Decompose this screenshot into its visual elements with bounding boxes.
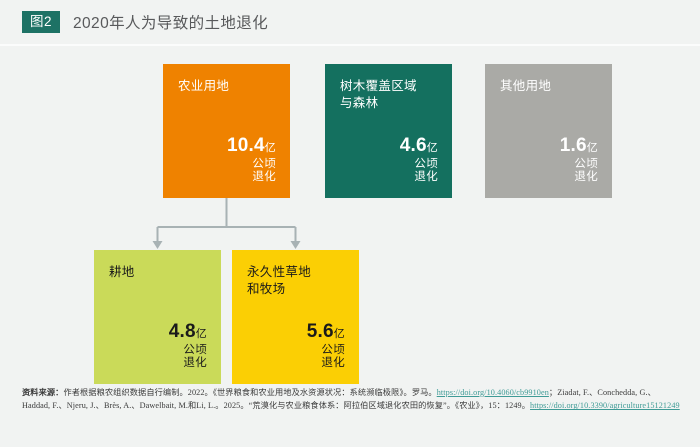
node-unit-suffix: 亿 bbox=[334, 328, 345, 340]
node-label: 树木覆盖区域 与森林 bbox=[340, 78, 438, 113]
node-label: 其他用地 bbox=[500, 78, 598, 95]
node-unit-suffix: 亿 bbox=[265, 142, 276, 154]
figure-root: 图2 2020年人为导致的土地退化 农业用地 10.4亿 公顷 退化 bbox=[0, 0, 700, 447]
page-title: 2020年人为导致的土地退化 bbox=[73, 11, 268, 33]
figure-number-badge: 图2 bbox=[22, 11, 60, 34]
node-amount: 4.6 bbox=[400, 135, 427, 156]
node-unit-hectares: 公顷 bbox=[340, 158, 438, 172]
node-agricultural-land: 农业用地 10.4亿 公顷 退化 bbox=[163, 64, 290, 198]
node-tree-cover-and-forest: 树木覆盖区域 与森林 4.6亿 公顷 退化 bbox=[325, 64, 452, 198]
node-unit-hectares: 公顷 bbox=[247, 344, 345, 358]
node-unit-degraded: 退化 bbox=[247, 357, 345, 371]
node-value: 10.4亿 公顷 退化 bbox=[178, 135, 276, 185]
node-unit-degraded: 退化 bbox=[340, 171, 438, 185]
node-label: 耕地 bbox=[109, 264, 207, 281]
node-permanent-meadows-and-pastures: 永久性草地 和牧场 5.6亿 公顷 退化 bbox=[232, 250, 359, 384]
node-unit-suffix: 亿 bbox=[196, 328, 207, 340]
node-value: 5.6亿 公顷 退化 bbox=[247, 321, 345, 371]
node-label: 永久性草地 和牧场 bbox=[247, 264, 345, 299]
arrowhead-left-icon bbox=[153, 241, 163, 249]
node-value: 1.6亿 公顷 退化 bbox=[500, 135, 598, 185]
node-unit-suffix: 亿 bbox=[427, 142, 438, 154]
source-link-1[interactable]: https://doi.org/10.4060/cb9910en bbox=[437, 388, 549, 397]
node-unit-degraded: 退化 bbox=[109, 357, 207, 371]
node-amount: 5.6 bbox=[307, 321, 334, 342]
node-amount: 10.4 bbox=[227, 135, 265, 156]
node-unit-hectares: 公顷 bbox=[500, 158, 598, 172]
node-amount: 4.8 bbox=[169, 321, 196, 342]
node-value: 4.6亿 公顷 退化 bbox=[340, 135, 438, 185]
diagram-canvas: 农业用地 10.4亿 公顷 退化 树木覆盖区域 与森林 4.6亿 公顷 退化 其… bbox=[0, 46, 700, 376]
arrowhead-right-icon bbox=[291, 241, 301, 249]
node-label: 农业用地 bbox=[178, 78, 276, 95]
node-value: 4.8亿 公顷 退化 bbox=[109, 321, 207, 371]
node-unit-suffix: 亿 bbox=[587, 142, 598, 154]
source-note: 资料来源：作者根据粮农组织数据自行编制。2022。《世界粮食和农业用地及水资源状… bbox=[22, 386, 682, 413]
source-lead-label: 资料来源： bbox=[22, 388, 63, 397]
node-other-land: 其他用地 1.6亿 公顷 退化 bbox=[485, 64, 612, 198]
node-unit-degraded: 退化 bbox=[500, 171, 598, 185]
node-amount: 1.6 bbox=[560, 135, 587, 156]
node-unit-degraded: 退化 bbox=[178, 171, 276, 185]
source-text-part-1: 作者根据粮农组织数据自行编制。2022。《世界粮食和农业用地及水资源状况：系统濒… bbox=[63, 388, 436, 397]
node-cropland: 耕地 4.8亿 公顷 退化 bbox=[94, 250, 221, 384]
source-link-2[interactable]: https://doi.org/10.3390/agriculture15121… bbox=[530, 401, 680, 410]
figure-header: 图2 2020年人为导致的土地退化 bbox=[0, 0, 700, 44]
node-unit-hectares: 公顷 bbox=[109, 344, 207, 358]
node-unit-hectares: 公顷 bbox=[178, 158, 276, 172]
